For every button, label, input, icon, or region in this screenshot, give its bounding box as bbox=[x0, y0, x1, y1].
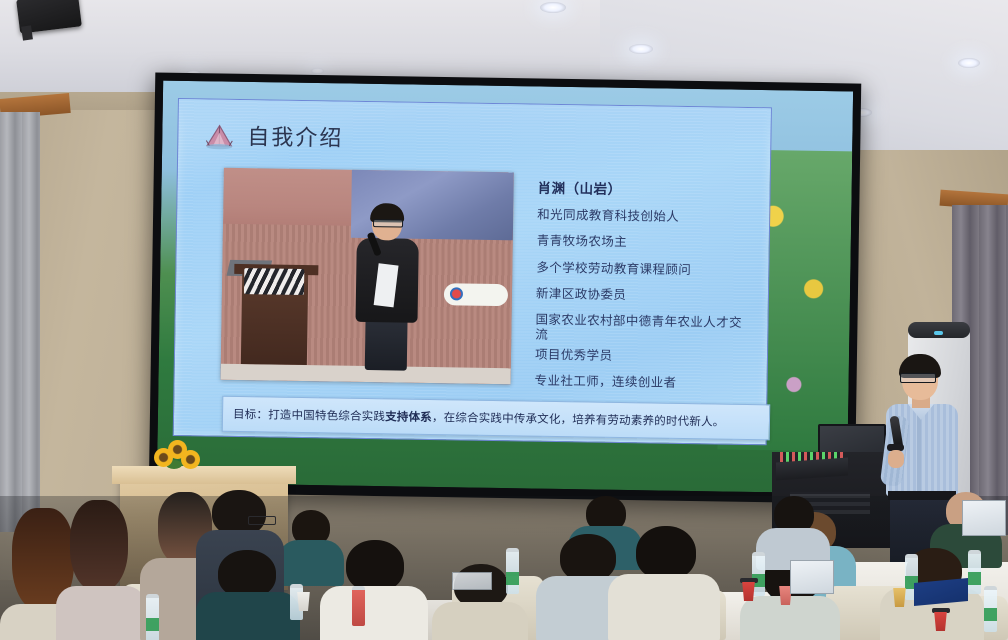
bottle-label bbox=[506, 572, 519, 585]
bio-line: 多个学校劳动教育课程顾问 bbox=[536, 260, 752, 279]
bio-line: 项目优秀学员 bbox=[535, 347, 751, 366]
audience-torso bbox=[432, 602, 528, 640]
presenter-hand bbox=[888, 450, 904, 468]
air-conditioner-top bbox=[908, 322, 970, 338]
presenter-shirt-placket bbox=[917, 414, 921, 494]
bio-line: 专业社工师，连续创业者 bbox=[534, 373, 750, 392]
audience-member bbox=[56, 500, 146, 640]
laptop[interactable] bbox=[962, 500, 1006, 536]
slide-title: 自我介绍 bbox=[247, 126, 343, 150]
ceiling-light bbox=[540, 2, 566, 13]
sunflower-arrangement bbox=[152, 440, 200, 476]
photo-speaker-glasses bbox=[373, 219, 403, 227]
presenter-glasses bbox=[900, 373, 936, 383]
water-bottle bbox=[506, 548, 519, 594]
laptop[interactable] bbox=[790, 560, 834, 594]
bio-block: 肖渊（山岩） 和光同成教育科技创始人 青青牧场农场主 多个学校劳动教育课程顾问 … bbox=[534, 177, 753, 403]
tent-icon bbox=[204, 123, 234, 149]
goal-text: 目标：打造中国特色综合实践支持体系，在综合实践中传承文化，培养有劳动素养的时代新… bbox=[223, 406, 725, 430]
photo-calligraphy-sign bbox=[244, 268, 304, 295]
conference-room-scene: 自我介绍 bbox=[0, 0, 1008, 640]
slide-title-row: 自我介绍 bbox=[204, 123, 343, 151]
ceiling-light bbox=[629, 44, 653, 54]
bio-name: 肖渊（山岩） bbox=[537, 177, 753, 200]
slide-content-panel: 自我介绍 bbox=[173, 98, 772, 445]
audience-torso bbox=[608, 574, 720, 640]
audience-member bbox=[756, 496, 830, 566]
bio-line: 和光同成教育科技创始人 bbox=[537, 208, 753, 227]
laptop[interactable] bbox=[452, 572, 492, 590]
bottle-label bbox=[968, 572, 981, 585]
audience-member bbox=[320, 540, 428, 640]
bottle-label bbox=[984, 608, 997, 621]
audience-glasses bbox=[248, 516, 276, 525]
audience-head bbox=[346, 540, 404, 592]
speaker-mount-arm bbox=[21, 25, 33, 40]
bio-line: 青青牧场农场主 bbox=[537, 234, 753, 253]
left-curtain bbox=[0, 112, 40, 532]
water-bottle bbox=[146, 594, 159, 640]
audience-head bbox=[636, 526, 696, 580]
photo-speaker-figure bbox=[353, 206, 422, 369]
goal-suffix: ，在综合实践中传承文化，培养有劳动素养的时代新人。 bbox=[432, 412, 725, 429]
presentation-slide: 自我介绍 bbox=[172, 98, 812, 468]
audience-head bbox=[70, 500, 128, 592]
audience-head bbox=[218, 550, 276, 598]
audience-member bbox=[196, 550, 300, 640]
audience-torso bbox=[320, 586, 428, 640]
audience-torso bbox=[56, 586, 146, 640]
audience-member bbox=[608, 526, 720, 640]
ceiling-light bbox=[958, 58, 980, 68]
photo-speaker-legs bbox=[365, 318, 408, 371]
sunflower bbox=[181, 450, 200, 469]
goal-emphasis: 支持体系 bbox=[385, 411, 432, 424]
slide-photo bbox=[221, 168, 514, 385]
audience-torso bbox=[196, 592, 300, 640]
goal-prefix: 目标：打造中国特色综合实践 bbox=[233, 409, 385, 423]
podium-top-surface bbox=[112, 466, 296, 484]
bio-line: 国家农业农村部中德青年农业人才交流 bbox=[535, 313, 751, 347]
bottle-label bbox=[146, 618, 159, 631]
water-bottle bbox=[352, 586, 365, 626]
ceiling-light bbox=[311, 68, 324, 74]
air-conditioner-indicator bbox=[934, 331, 943, 335]
goal-bar: 目标：打造中国特色综合实践支持体系，在综合实践中传承文化，培养有劳动素养的时代新… bbox=[222, 396, 770, 441]
bio-line: 新津区政协委员 bbox=[536, 286, 752, 305]
